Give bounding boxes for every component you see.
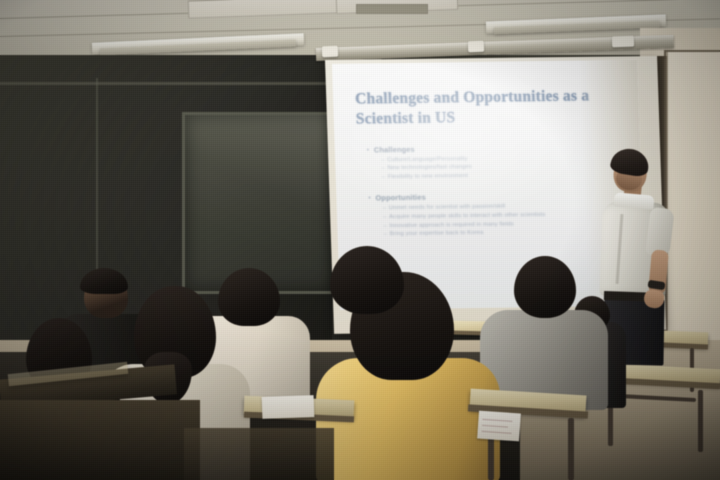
desk-leg	[698, 390, 703, 452]
paper-line	[482, 425, 508, 428]
slide-section-heading-challenges: Challenges	[367, 142, 622, 155]
wall-trim	[0, 82, 330, 85]
wall-seam	[96, 78, 98, 288]
rail-bracket-left	[322, 46, 338, 58]
notebook-on-desk	[477, 411, 521, 442]
paper-line	[482, 419, 512, 422]
slide-title: Challenges and Opportunities as a Scient…	[355, 86, 621, 129]
ceiling-vent	[356, 4, 428, 14]
desk-foreground-shadowed	[184, 428, 334, 480]
student-head	[514, 256, 576, 318]
framed-whiteboard	[182, 112, 336, 294]
paper-on-desk	[262, 395, 315, 419]
slide-bullet: Bring your expertise back to Korea	[384, 228, 625, 237]
classroom-photograph: Challenges and Opportunities as a Scient…	[0, 0, 720, 480]
slide-bullet: Acquire many people skills to interact w…	[383, 211, 624, 220]
student-head	[330, 246, 404, 314]
paper-line	[482, 431, 512, 434]
slide-bullet: Culture/Language/Personality	[381, 154, 622, 163]
rail-bracket-right	[612, 36, 634, 48]
slide-bullet: New technologies/fast changes	[381, 162, 622, 171]
slide-bullet: Flexibility to new environment	[382, 171, 623, 180]
slide-bullet: Unmet needs for scientist with passion/s…	[383, 202, 624, 211]
desk-leg	[568, 418, 574, 480]
slide-bullet: Innovative approach is required in many …	[383, 220, 624, 229]
desk-foreground-shadowed	[0, 400, 200, 480]
whiteboard-sheen	[185, 115, 333, 291]
rail-bracket-mid	[468, 41, 484, 53]
student-back-head	[330, 246, 404, 320]
